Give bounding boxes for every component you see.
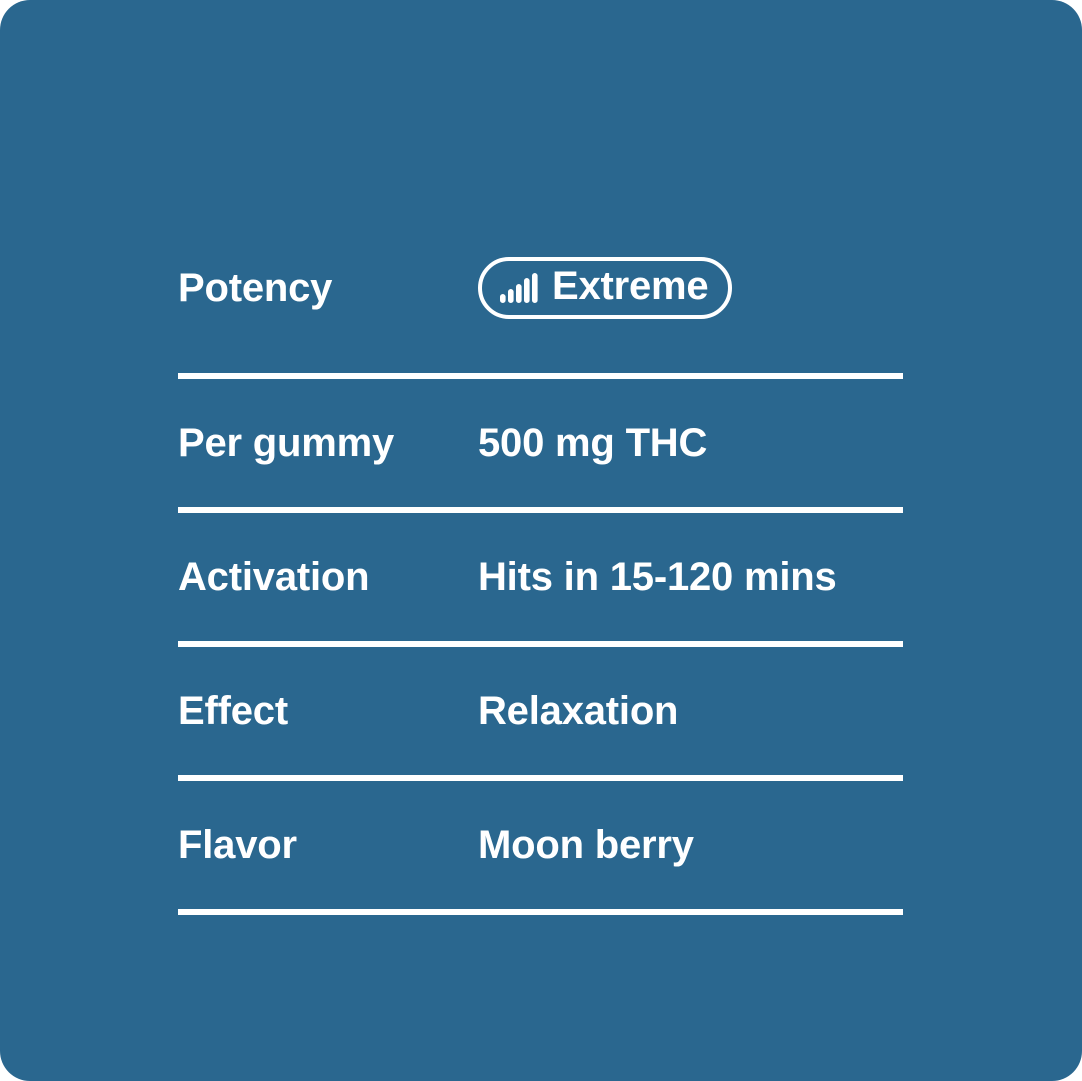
row-spacer <box>178 781 903 819</box>
spec-value-per-gummy: 500 mg THC <box>478 421 903 465</box>
spec-value-activation: Hits in 15-120 mins <box>478 555 903 599</box>
signal-bars-icon <box>500 273 540 303</box>
spec-label-potency: Potency <box>178 266 478 310</box>
spec-row-flavor: Flavor Moon berry <box>178 819 903 871</box>
spec-row-per-gummy: Per gummy 500 mg THC <box>178 417 903 469</box>
product-spec-card: Potency Extreme <box>0 0 1082 1081</box>
spec-row-potency: Potency Extreme <box>178 243 903 333</box>
spec-label-effect: Effect <box>178 689 478 733</box>
row-spacer <box>178 603 903 641</box>
spec-value-flavor: Moon berry <box>478 823 903 867</box>
row-spacer <box>178 333 903 373</box>
spec-label-per-gummy: Per gummy <box>178 421 478 465</box>
spec-table: Potency Extreme <box>178 243 903 915</box>
spec-label-flavor: Flavor <box>178 823 478 867</box>
potency-badge-label: Extreme <box>552 266 708 306</box>
spec-row-activation: Activation Hits in 15-120 mins <box>178 551 903 603</box>
potency-badge[interactable]: Extreme <box>478 257 732 319</box>
spec-value-potency: Extreme <box>478 257 903 319</box>
row-spacer <box>178 737 903 775</box>
row-spacer <box>178 513 903 551</box>
row-spacer <box>178 379 903 417</box>
spec-row-effect: Effect Relaxation <box>178 685 903 737</box>
spec-value-effect: Relaxation <box>478 689 903 733</box>
row-spacer <box>178 871 903 909</box>
row-spacer <box>178 469 903 507</box>
row-spacer <box>178 647 903 685</box>
divider-5 <box>178 909 903 915</box>
spec-label-activation: Activation <box>178 555 478 599</box>
